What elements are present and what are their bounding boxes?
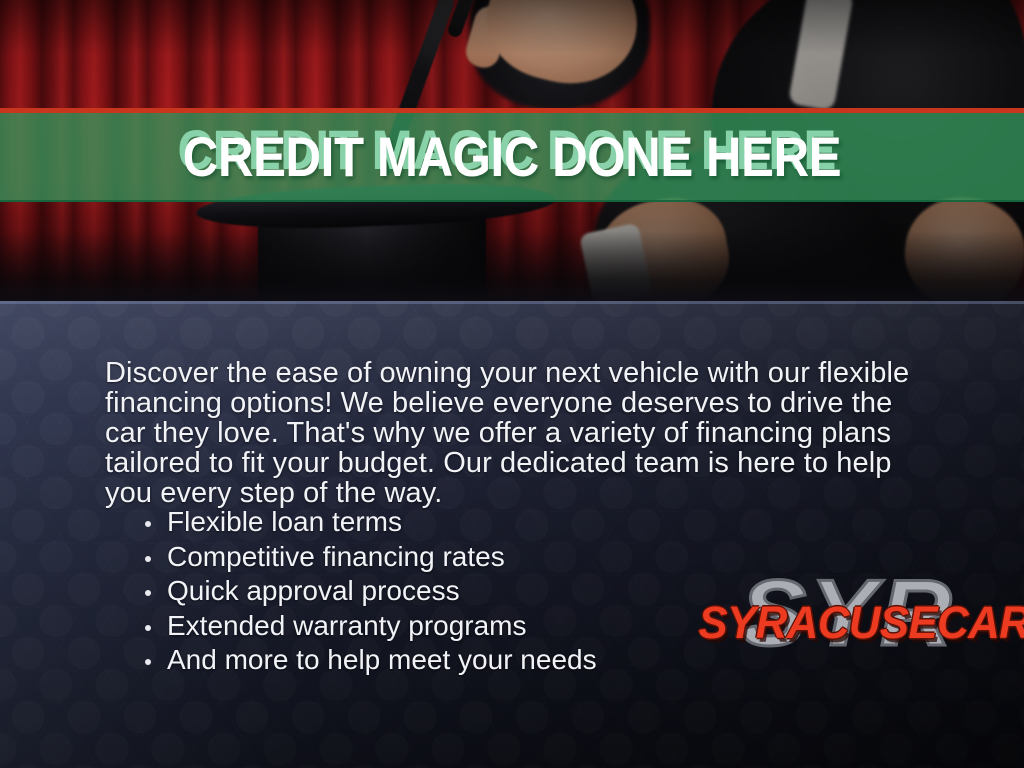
list-item: Competitive financing rates bbox=[140, 540, 597, 575]
intro-paragraph: Discover the ease of owning your next ve… bbox=[105, 358, 925, 508]
list-item: And more to help meet your needs bbox=[140, 643, 597, 678]
list-item: Extended warranty programs bbox=[140, 609, 597, 644]
benefits-list: Flexible loan terms Competitive financin… bbox=[140, 505, 597, 678]
content-top-divider bbox=[0, 301, 1024, 304]
headline-banner: CREDIT MAGIC DONE HERE bbox=[0, 108, 1024, 200]
list-item: Flexible loan terms bbox=[140, 505, 597, 540]
headline-title: CREDIT MAGIC DONE HERE bbox=[61, 113, 962, 200]
hero-bottom-fade bbox=[0, 231, 1024, 301]
content-panel: Discover the ease of owning your next ve… bbox=[0, 301, 1024, 768]
syracusecars-logo[interactable]: SYR SYRACUSECARS.COM bbox=[700, 565, 990, 680]
logo-wordmark: SYRACUSECARS.COM bbox=[699, 597, 990, 649]
list-item: Quick approval process bbox=[140, 574, 597, 609]
promo-slide: CREDIT MAGIC DONE HERE Discover the ease… bbox=[0, 0, 1024, 768]
